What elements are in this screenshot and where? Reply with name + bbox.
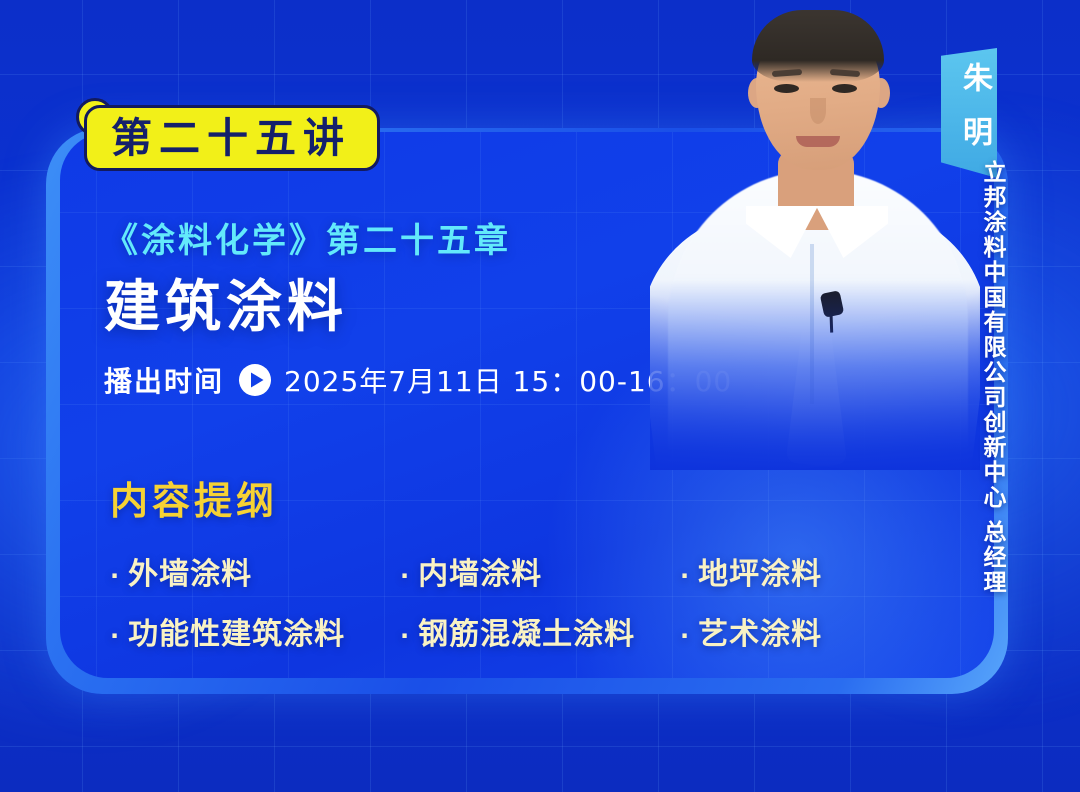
list-item: ·外墙涂料 <box>110 549 400 593</box>
lecture-number-label: 第二十五讲 <box>111 118 351 159</box>
outline-list: ·外墙涂料 ·内墙涂料 ·地坪涂料 ·功能性建筑涂料 ·钢筋混凝土涂料 ·艺术涂… <box>110 549 900 653</box>
outline-block: 内容提纲 ·外墙涂料 ·内墙涂料 ·地坪涂料 ·功能性建筑涂料 ·钢筋混凝土涂料… <box>110 470 900 653</box>
bullet-icon: · <box>400 562 410 590</box>
course-subtitle: 《涂料化学》第二十五章 <box>104 220 724 263</box>
bullet-icon: · <box>400 622 410 650</box>
presenter-role: 立邦涂料中国有限公司创新中心 总经理 <box>980 160 1003 595</box>
presenter-eye-right <box>832 84 857 93</box>
page-title: 建筑涂料 <box>104 277 724 339</box>
title-block: 《涂料化学》第二十五章 建筑涂料 播出时间 2025年7月11日 15：00-1… <box>104 220 724 400</box>
presenter-name: 朱明 <box>949 62 989 170</box>
list-item: ·功能性建筑涂料 <box>110 609 400 653</box>
list-item: ·钢筋混凝土涂料 <box>400 609 680 653</box>
list-item-label: 内墙涂料 <box>418 557 542 592</box>
presenter-fade-overlay <box>650 280 980 470</box>
presenter-nose <box>810 98 826 124</box>
bullet-icon: · <box>680 622 690 650</box>
bullet-icon: · <box>680 562 690 590</box>
outline-heading: 内容提纲 <box>110 470 900 525</box>
presenter-portrait <box>650 0 980 470</box>
presenter-eye-left <box>774 84 799 93</box>
bullet-icon: · <box>110 622 120 650</box>
slide-canvas: 第二十五讲 《涂料化学》第二十五章 建筑涂料 播出时间 2025年7月11日 1… <box>0 0 1080 792</box>
list-item-label: 钢筋混凝土涂料 <box>418 617 635 652</box>
list-item: ·内墙涂料 <box>400 549 680 593</box>
list-item-label: 功能性建筑涂料 <box>128 617 345 652</box>
broadcast-time-row: 播出时间 2025年7月11日 15：00-16：00 <box>104 360 724 400</box>
list-item-label: 外墙涂料 <box>128 557 252 592</box>
bullet-icon: · <box>110 562 120 590</box>
list-item: ·地坪涂料 <box>680 549 900 593</box>
list-item-label: 地坪涂料 <box>698 557 822 592</box>
play-icon <box>238 363 272 397</box>
list-item: ·艺术涂料 <box>680 609 900 653</box>
presenter-mouth <box>796 136 840 147</box>
broadcast-time-label: 播出时间 <box>104 360 224 400</box>
list-item-label: 艺术涂料 <box>698 617 822 652</box>
lecture-number-badge: 第二十五讲 <box>84 105 380 171</box>
